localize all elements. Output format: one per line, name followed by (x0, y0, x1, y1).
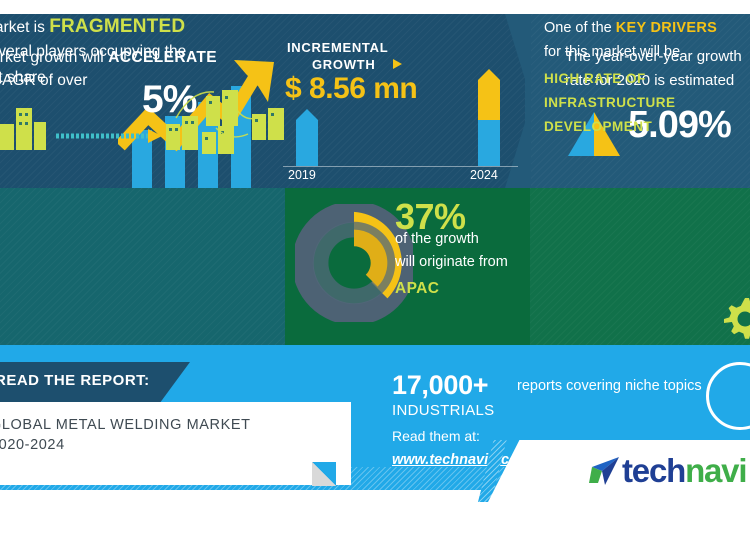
key-drivers-line1: One of the KEY DRIVERS (544, 20, 717, 36)
page-fold-icon (312, 462, 336, 486)
incremental-growth-title-line1: INCREMENTAL (287, 40, 388, 55)
incremental-growth-value: $ 8.56 mn (285, 72, 417, 106)
fragmented-line1-emphasis: FRAGMENTED (49, 16, 185, 37)
apac-line2: will originate from (395, 254, 508, 270)
logo-text-navi: navi (685, 452, 746, 489)
read-the-report-label: READ THE REPORT: (0, 372, 150, 389)
infographic-canvas: market growth will ACCELERATE a CAGR of … (0, 0, 750, 536)
technavio-wordmark: technavi (622, 452, 746, 490)
report-years: 2020-2024 (0, 437, 65, 453)
play-triangle-icon (393, 59, 402, 69)
technavio-paper-plane-icon (586, 456, 620, 486)
sector-label: INDUSTRIALS (392, 402, 495, 419)
driver-text-line3: DEVELOPMENT (544, 119, 652, 134)
incremental-growth-title-line2: GROWTH (312, 57, 375, 72)
key-drivers-line1-prefix: One of the (544, 20, 616, 36)
fragmented-line2: several players occupying the (0, 43, 186, 61)
read-them-at-label: Read them at: (392, 428, 480, 444)
incremental-axis-line (283, 166, 518, 167)
apac-region-label: APAC (395, 280, 439, 298)
incremental-year-end-label: 2024 (470, 168, 498, 182)
key-drivers-line1-emphasis: KEY DRIVERS (616, 20, 717, 36)
key-drivers-line2: for this market will be (544, 44, 680, 60)
city-buildings-network-icon (0, 88, 290, 154)
fragmented-line1: market is FRAGMENTED (0, 16, 185, 38)
apac-line1: of the growth (395, 231, 479, 247)
panel-key-drivers (530, 188, 750, 345)
report-count-suffix: reports covering niche topics (517, 378, 702, 394)
logo-text-tech: tech (622, 452, 685, 489)
driver-text-line2: INFRASTRUCTURE (544, 95, 676, 110)
report-title: GLOBAL METAL WELDING MARKET (0, 417, 251, 433)
incremental-bar-2024-increment (478, 80, 500, 120)
fragmented-line1-prefix: market is (0, 19, 49, 36)
panel-fragmented (0, 188, 285, 345)
gear-icon (722, 296, 750, 342)
incremental-bar-2024-base (478, 120, 500, 166)
incremental-year-start-label: 2019 (288, 168, 316, 182)
fragmented-line3: ket share (0, 69, 46, 87)
report-count: 17,000+ (392, 370, 488, 401)
incremental-bar-2019 (296, 120, 318, 166)
driver-text-line1: HIGH RATE OF (544, 71, 646, 86)
